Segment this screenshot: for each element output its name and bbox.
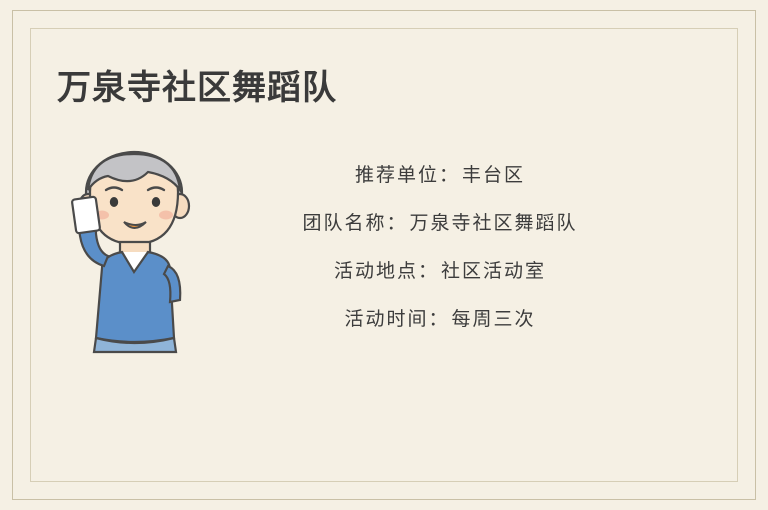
elderly-person-illustration	[62, 140, 207, 355]
info-label: 推荐单位：	[355, 160, 460, 187]
info-label: 团队名称：	[302, 208, 407, 235]
info-label: 活动时间：	[344, 304, 449, 331]
info-label: 活动地点：	[334, 256, 439, 283]
page-title: 万泉寺社区舞蹈队	[57, 60, 337, 109]
info-row: 活动时间： 每周三次	[225, 304, 655, 352]
info-value: 每周三次	[452, 304, 536, 331]
info-row: 推荐单位： 丰台区	[225, 160, 655, 208]
info-value: 丰台区	[462, 160, 525, 187]
info-row: 活动地点： 社区活动室	[225, 256, 655, 304]
info-value: 万泉寺社区舞蹈队	[410, 208, 578, 235]
info-row: 团队名称： 万泉寺社区舞蹈队	[225, 208, 655, 256]
poster-page: 万泉寺社区舞蹈队	[0, 0, 768, 510]
info-value: 社区活动室	[441, 256, 546, 283]
info-list: 推荐单位： 丰台区 团队名称： 万泉寺社区舞蹈队 活动地点： 社区活动室 活动时…	[225, 160, 655, 352]
